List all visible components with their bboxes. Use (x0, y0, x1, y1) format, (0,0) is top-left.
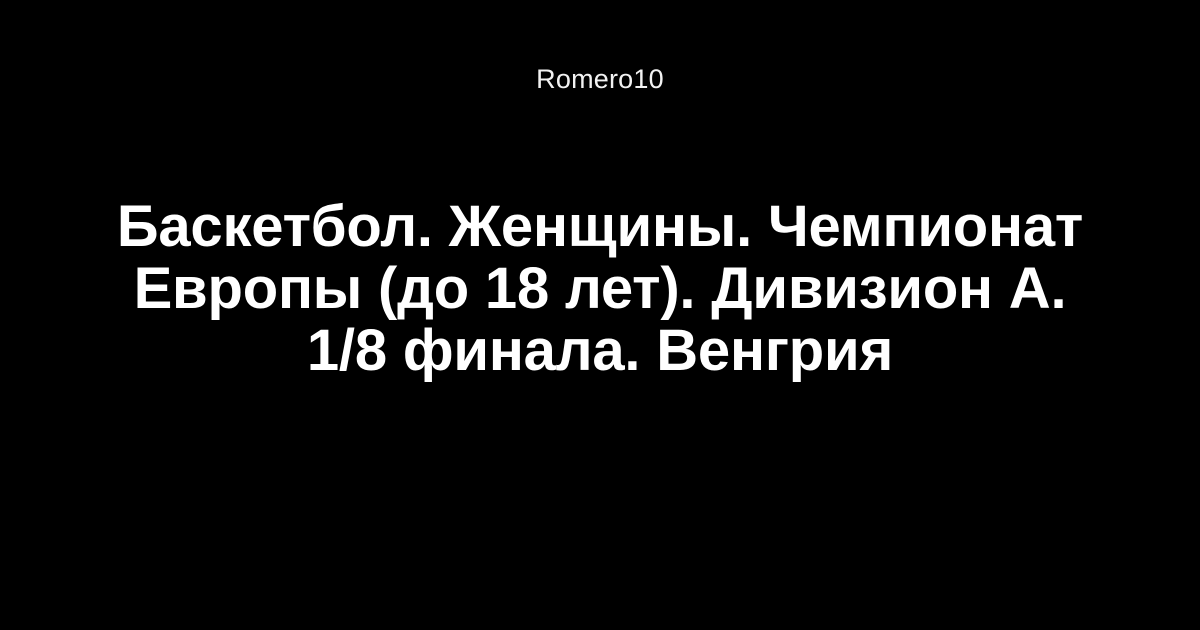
site-brand-label: Romero10 (536, 66, 664, 93)
headline-block: Баскетбол. Женщины. Чемпионат Европы (до… (100, 196, 1100, 382)
preview-card: Romero10 Баскетбол. Женщины. Чемпионат Е… (0, 0, 1200, 630)
brand-row: Romero10 (0, 66, 1200, 93)
page-title: Баскетбол. Женщины. Чемпионат Европы (до… (100, 196, 1100, 382)
